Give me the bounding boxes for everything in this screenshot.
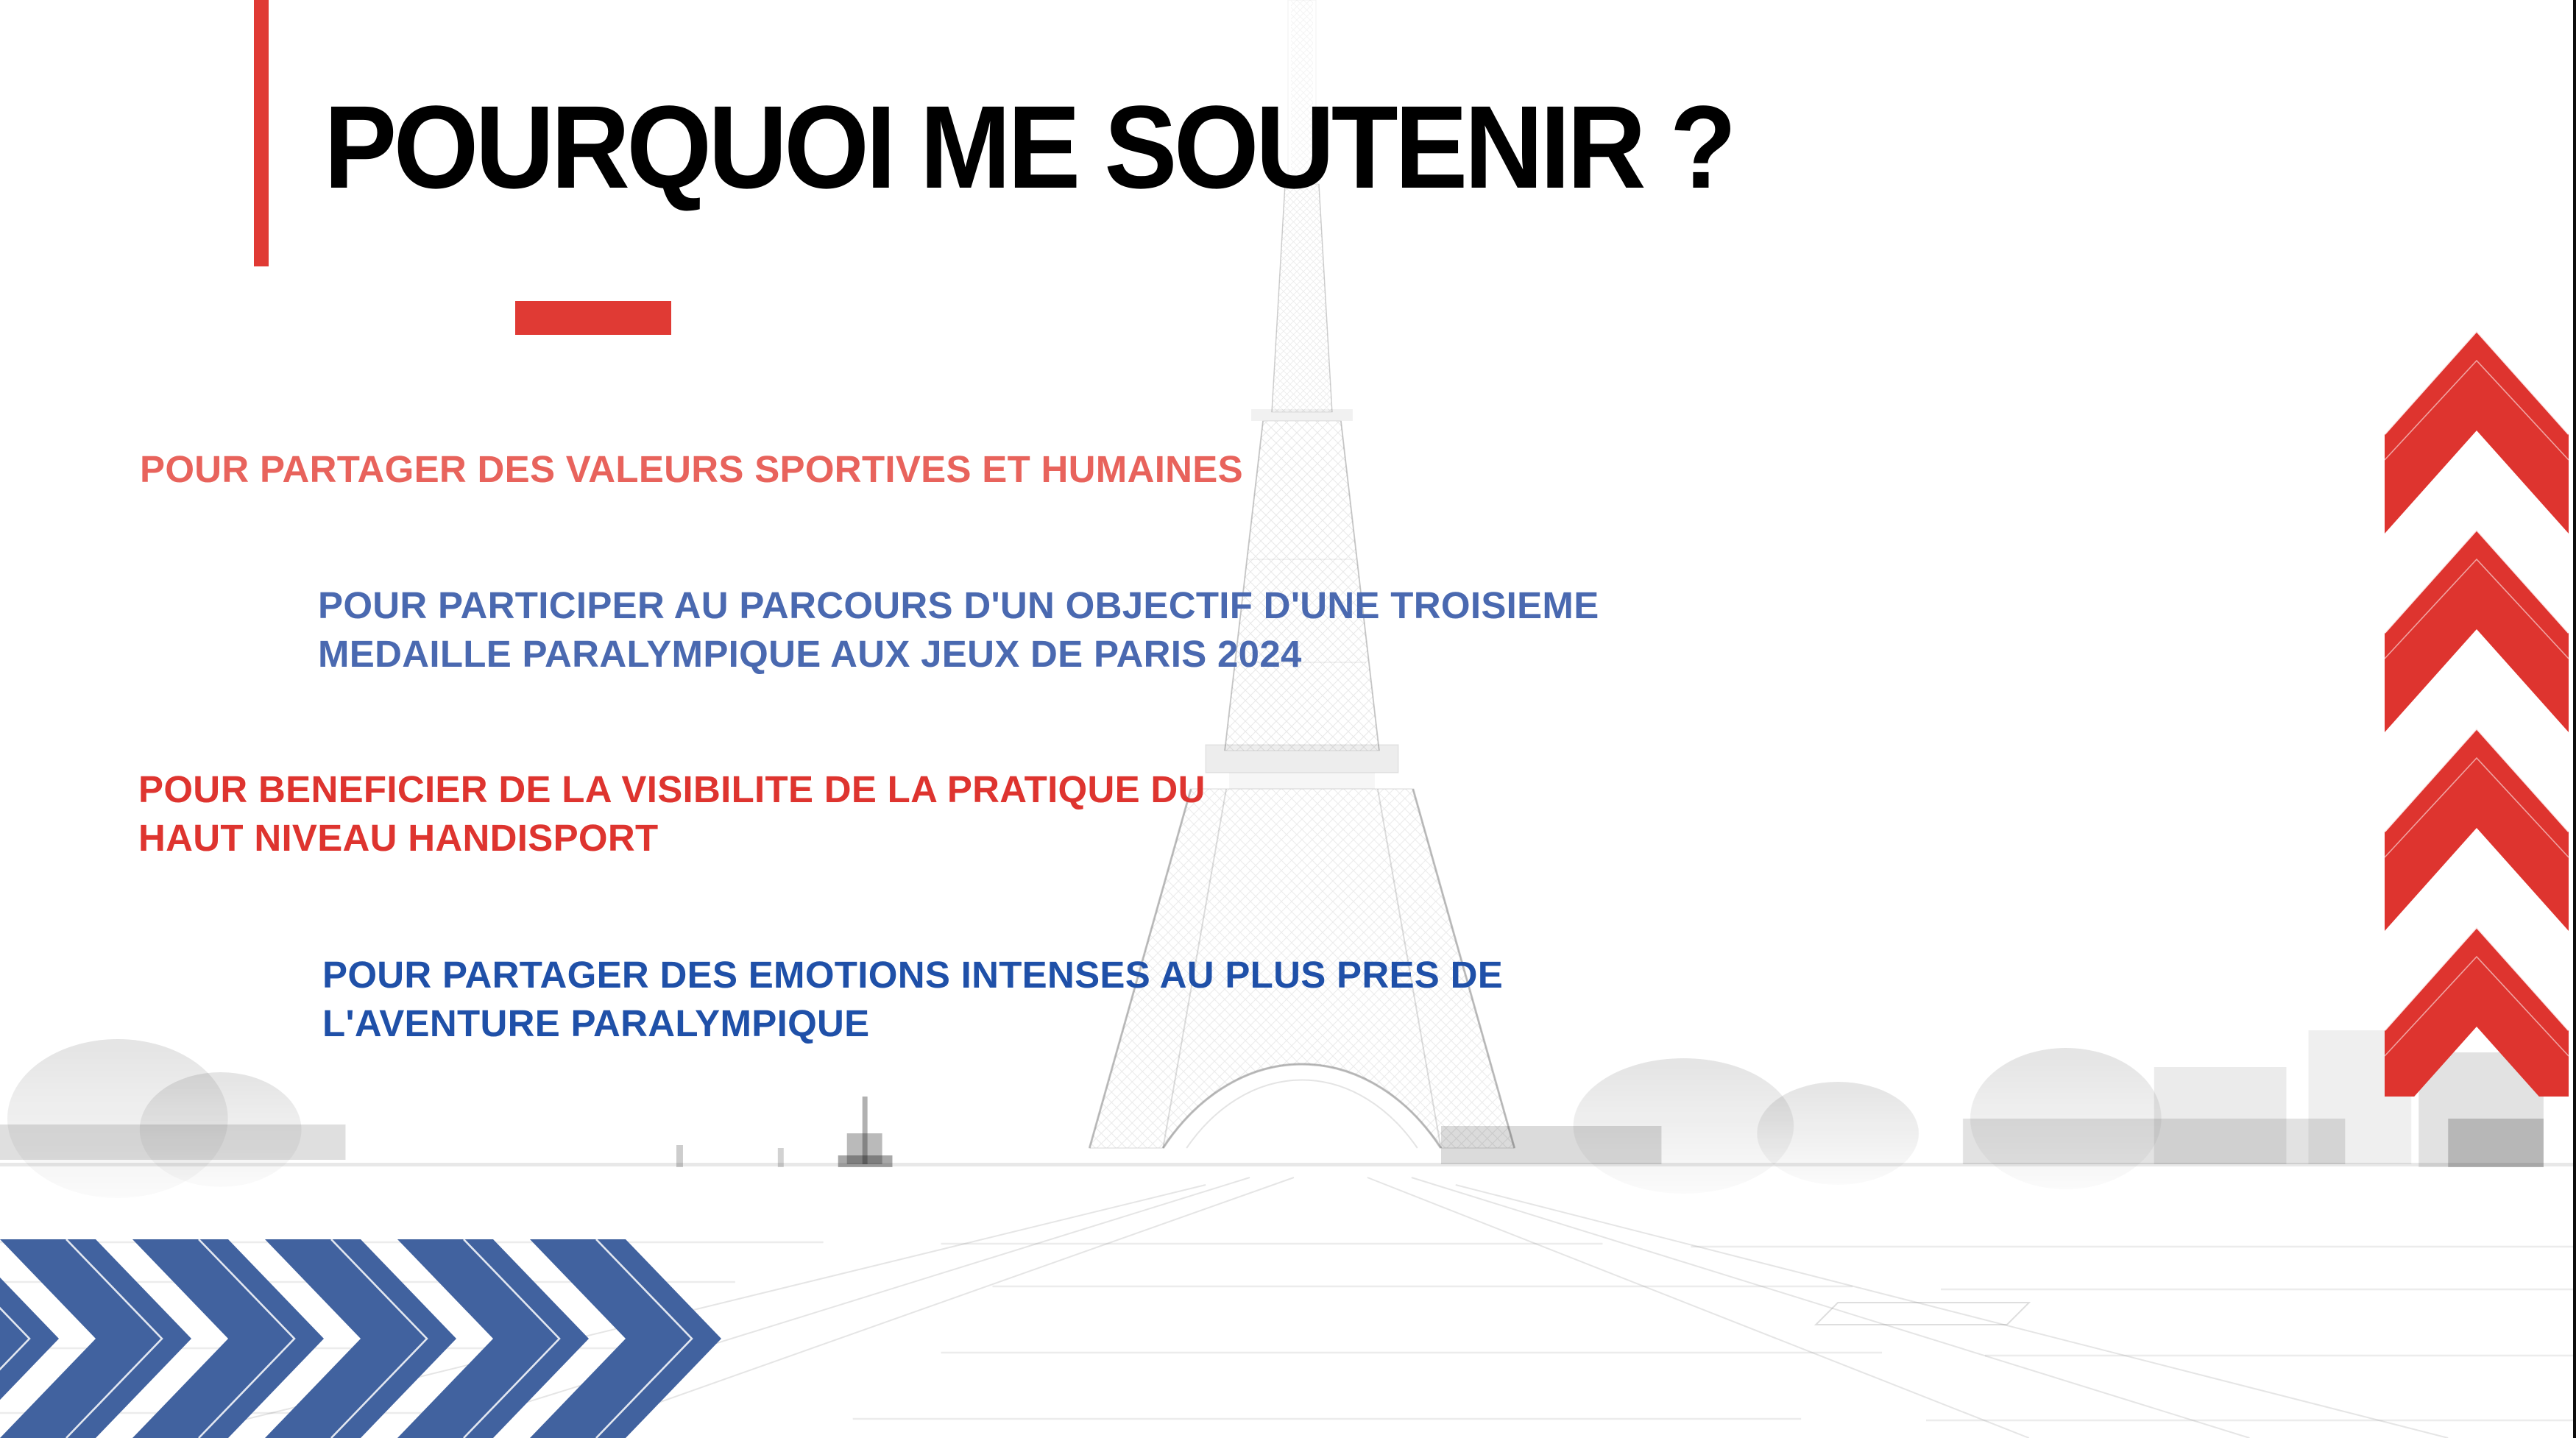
- title-accent-bar: [254, 0, 269, 266]
- chevron-up-stack-right: [2385, 324, 2569, 1097]
- page-title: POURQUOI ME SOUTENIR ?: [324, 88, 1733, 206]
- bullet-reason-2: POUR PARTICIPER AU PARCOURS D'UN OBJECTI…: [318, 581, 1599, 679]
- bullet-reason-3: POUR BENEFICIER DE LA VISIBILITE DE LA P…: [138, 765, 1206, 863]
- chevron-right-stack-bottom: [0, 1210, 817, 1438]
- title-underline-block: [515, 301, 671, 335]
- bullet-reason-1: POUR PARTAGER DES VALEURS SPORTIVES ET H…: [140, 445, 1243, 494]
- bullet-reason-4: POUR PARTAGER DES EMOTIONS INTENSES AU P…: [322, 951, 1503, 1049]
- presentation-slide: POURQUOI ME SOUTENIR ? POUR PARTAGER DES…: [0, 0, 2576, 1438]
